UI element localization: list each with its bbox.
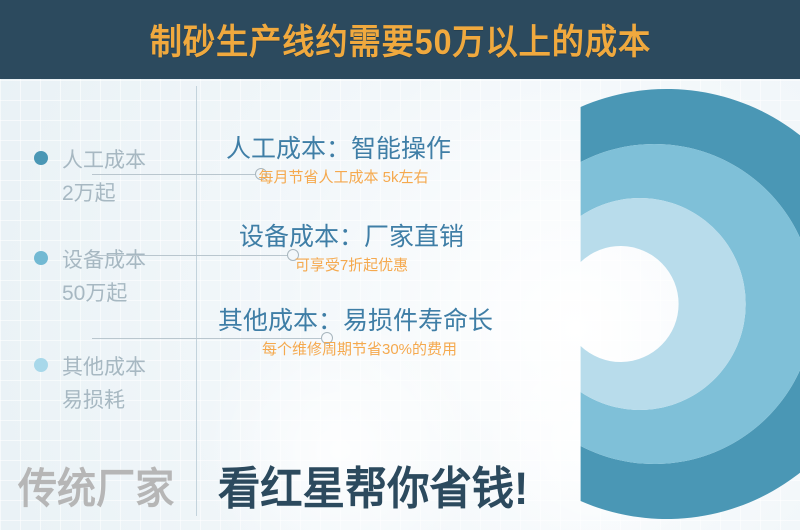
sidebar-item-label: 其他成本 易损耗 <box>62 351 146 417</box>
inner-ring <box>581 198 746 410</box>
infographic-canvas: 制砂生产线约需要50万以上的成本 人工成本 2万起 设备成本 50万起 其他成本… <box>0 0 800 530</box>
benefit-row-labor[interactable]: 人工成本：智能操作 每月节省人工成本 5k左右 <box>226 134 451 188</box>
bullet-dot-icon <box>34 358 48 372</box>
footer-traditional-label: 传统厂家 <box>18 455 174 516</box>
middle-ring <box>581 144 800 464</box>
benefit-title: 设备成本：厂家直销 <box>239 222 464 252</box>
bullet-dot-icon <box>34 251 48 265</box>
sidebar-item-line2: 2万起 <box>62 182 116 205</box>
outer-ring <box>581 89 800 519</box>
sidebar-item-line2: 易损耗 <box>62 389 125 412</box>
sidebar-item-line1: 其他成本 <box>62 356 146 379</box>
column-divider <box>196 86 197 516</box>
sidebar-item-other-cost[interactable]: 其他成本 易损耗 <box>34 351 146 417</box>
page-title: 制砂生产线约需要50万以上的成本 <box>149 14 650 65</box>
benefit-title: 人工成本：智能操作 <box>226 134 451 164</box>
header-banner: 制砂生产线约需要50万以上的成本 <box>0 0 800 79</box>
benefit-subtitle: 每月节省人工成本 5k左右 <box>226 168 451 188</box>
bullet-dot-icon <box>34 151 48 165</box>
benefit-row-other[interactable]: 其他成本：易损件寿命长 每个维修周期节省30%的费用 <box>218 306 493 360</box>
footer-slogan: 看红星帮你省钱! <box>218 452 528 517</box>
benefit-subtitle: 可享受7折起优惠 <box>239 256 464 276</box>
benefit-row-equipment[interactable]: 设备成本：厂家直销 可享受7折起优惠 <box>239 222 464 276</box>
sidebar-item-line2: 50万起 <box>62 282 127 305</box>
benefit-title: 其他成本：易损件寿命长 <box>218 306 493 336</box>
benefit-subtitle: 每个维修周期节省30%的费用 <box>218 340 493 360</box>
